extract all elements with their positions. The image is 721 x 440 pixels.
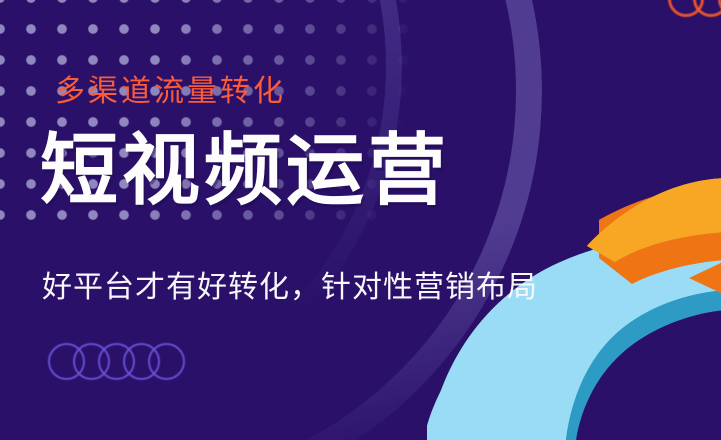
purple-arc-swoosh-secondary-icon <box>0 0 402 432</box>
banner-headline: 短视频运营 <box>40 132 450 210</box>
promo-banner: 多渠道流量转化 短视频运营 好平台才有好转化，针对性营销布局 <box>0 0 721 440</box>
ring-icon <box>693 0 721 17</box>
ring-icon <box>123 343 160 380</box>
ring-icon <box>668 0 704 17</box>
overlapping-ring-cluster-left-icon <box>48 343 173 380</box>
ring-icon <box>48 343 85 380</box>
banner-kicker-text: 多渠道流量转化 <box>55 66 286 110</box>
overlapping-ring-cluster-top-right-icon <box>668 0 721 17</box>
ring-icon <box>98 343 135 380</box>
banner-subheadline: 好平台才有好转化，针对性营销布局 <box>42 262 538 306</box>
ring-icon <box>148 343 185 380</box>
ring-icon <box>73 343 110 380</box>
